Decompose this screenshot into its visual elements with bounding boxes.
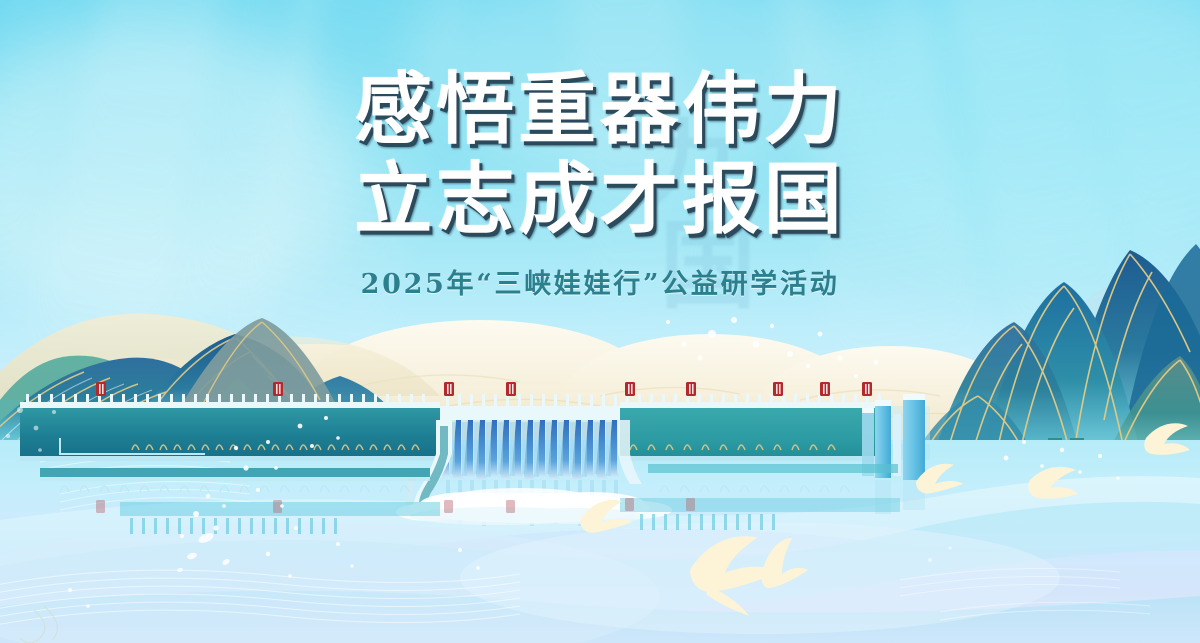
banner-title-line-1: 感悟重器伟力 — [0, 66, 1200, 154]
event-banner: 力 国 — [0, 0, 1200, 643]
flying-swallows — [0, 420, 1200, 643]
banner-title-line-2: 立志成才报国 — [0, 156, 1200, 244]
bird-icon — [580, 500, 633, 533]
bird-icon — [916, 464, 964, 494]
bird-icon — [1028, 467, 1078, 499]
bird-icon — [1144, 423, 1190, 454]
bird-icon — [761, 538, 808, 588]
banner-subtitle: 2025年“三峡娃娃行”公益研学活动 — [0, 262, 1200, 301]
banner-text-block: 感悟重器伟力 立志成才报国 2025年“三峡娃娃行”公益研学活动 — [0, 66, 1200, 301]
